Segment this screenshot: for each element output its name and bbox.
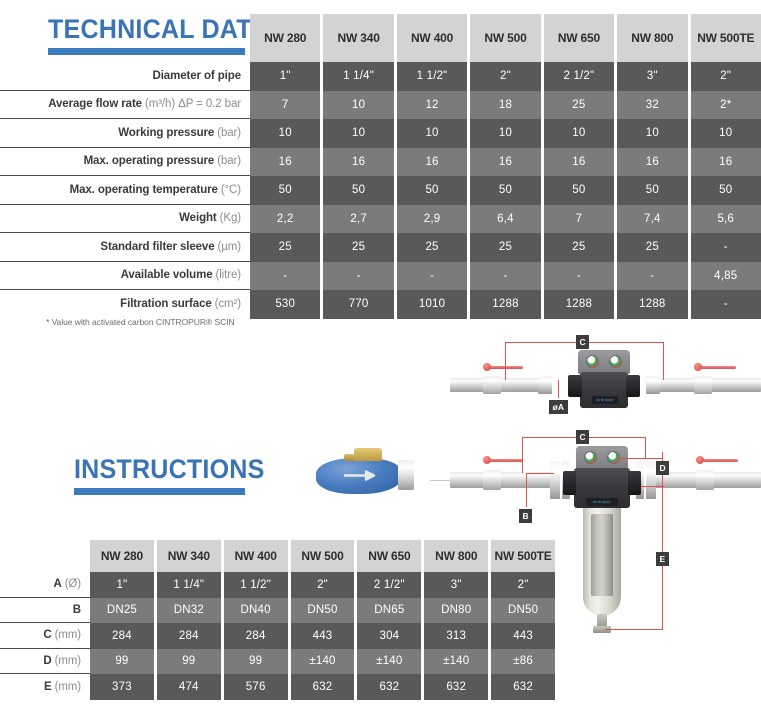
table-cell: 530: [250, 290, 320, 319]
filter-port-left-top: [568, 375, 582, 397]
table-cell: 770: [323, 290, 393, 319]
row-label-e: E(mm): [0, 674, 90, 700]
row-label-text: D: [43, 655, 51, 667]
row-label-text: Filtration surface: [120, 298, 212, 310]
table-cell: -: [691, 290, 761, 319]
table-cell: 2": [691, 62, 761, 91]
table-row: Standard filter sleeve(µm)252525252525-: [0, 233, 761, 262]
instructions-header-corner: [0, 540, 90, 572]
table-cell: 10: [617, 119, 687, 148]
table-cell: -: [544, 262, 614, 291]
table-cell: 2,7: [323, 205, 393, 234]
row-label-weight: Weight(Kg): [0, 205, 250, 234]
column-header-nw-400[interactable]: NW 400: [224, 540, 288, 572]
row-label-filtration-surface: Filtration surface(cm²): [0, 290, 250, 319]
row-label-unit: (µm): [215, 241, 241, 253]
column-header-nw-280[interactable]: NW 280: [90, 540, 154, 572]
table-cell: 25: [250, 233, 320, 262]
table-cell: 443: [291, 623, 355, 649]
table-cell: 284: [90, 623, 154, 649]
table-cell: 25: [470, 233, 540, 262]
table-cell: 373: [90, 674, 154, 700]
pipe-right-bottom: [710, 472, 761, 488]
column-header-nw-400[interactable]: NW 400: [397, 14, 467, 62]
row-label-c: C(mm): [0, 623, 90, 649]
row-label-text: Working pressure: [118, 127, 214, 139]
table-cell: 2,2: [250, 205, 320, 234]
dim-b-top-line: [526, 473, 554, 474]
instructions-title: INSTRUCTIONS: [74, 454, 265, 485]
table-cell: 284: [224, 623, 288, 649]
water-meter-nub: [344, 454, 354, 461]
table-cell: 1288: [470, 290, 540, 319]
collar-left-top: [538, 376, 552, 394]
table-cell: 632: [357, 674, 421, 700]
collar-right-top: [646, 376, 660, 394]
row-label-text: Weight: [179, 212, 217, 224]
brand-badge-bottom: cintropur: [586, 498, 618, 506]
brand-text-bottom: cintropur: [586, 498, 618, 506]
table-cell: 50: [470, 176, 540, 205]
row-cells: ------4,85: [250, 262, 761, 291]
table-cell: 576: [224, 674, 288, 700]
pressure-gauge-right-top: [609, 355, 622, 368]
dim-label-c-top: C: [576, 335, 589, 349]
table-cell: 50: [397, 176, 467, 205]
table-cell: 32: [617, 91, 687, 120]
table-cell: 16: [544, 148, 614, 177]
collar-right-2-bottom: [646, 461, 656, 499]
table-cell: 16: [323, 148, 393, 177]
table-cell: 99: [157, 649, 221, 675]
table-row: Max. operating pressure(bar)161616161616…: [0, 148, 761, 177]
dim-label-b: B: [519, 509, 532, 523]
table-cell: 2 1/2": [544, 62, 614, 91]
table-cell: 1": [250, 62, 320, 91]
row-label-unit: (bar): [214, 155, 241, 167]
dim-label-d: D: [656, 461, 669, 475]
dim-e-bottom-line: [605, 629, 663, 630]
row-label-unit: (m³/h) ΔP = 0.2 bar: [142, 98, 241, 110]
table-cell: 7,4: [617, 205, 687, 234]
row-cells: 710121825322*: [250, 91, 761, 120]
table-cell: 2,9: [397, 205, 467, 234]
row-label-unit: (bar): [214, 127, 241, 139]
row-label-unit: (mm): [52, 629, 81, 641]
dim-c-left-tick-bottom: [522, 437, 523, 473]
row-label-unit: (cm²): [212, 298, 241, 310]
table-cell: -: [470, 262, 540, 291]
flow-direction-icon: [342, 470, 382, 481]
row-label-unit: (°C): [218, 184, 241, 196]
row-label-unit: (Ø): [62, 578, 81, 590]
row-label-average-flow-rate: Average flow rate(m³/h) ΔP = 0.2 bar: [0, 91, 250, 120]
valve-knob-right-top: [694, 363, 702, 371]
table-cell: 1": [90, 572, 154, 598]
table-cell: 16: [470, 148, 540, 177]
row-label-text: B: [73, 604, 81, 616]
dim-a-line-top: [558, 380, 559, 398]
row-cells: 50505050505050: [250, 176, 761, 205]
table-cell: -: [617, 262, 687, 291]
row-label-max-operating-temperature: Max. operating temperature(°C): [0, 176, 250, 205]
table-cell: 10: [323, 91, 393, 120]
dim-c-right-tick-top: [663, 342, 664, 380]
diagram-water-meter: [310, 440, 460, 510]
table-cell: 3": [617, 62, 687, 91]
table-cell: 1288: [544, 290, 614, 319]
table-cell: DN65: [357, 598, 421, 624]
row-label-text: Available volume: [121, 269, 213, 281]
row-cells: 16161616161616: [250, 148, 761, 177]
table-row: Filtration surface(cm²)53077010101288128…: [0, 290, 761, 319]
table-cell: 10: [323, 119, 393, 148]
row-label-working-pressure: Working pressure(bar): [0, 119, 250, 148]
table-cell: 16: [250, 148, 320, 177]
table-cell: 16: [397, 148, 467, 177]
table-cell: 12: [397, 91, 467, 120]
table-cell: 16: [691, 148, 761, 177]
table-cell: 99: [224, 649, 288, 675]
row-label-text: Standard filter sleeve: [100, 241, 214, 253]
row-cells: 252525252525-: [250, 233, 761, 262]
valve-nut-left-top: [483, 376, 501, 394]
table-cell: 2": [291, 572, 355, 598]
row-label-standard-filter-sleeve: Standard filter sleeve(µm): [0, 233, 250, 262]
row-label-a: A(Ø): [0, 572, 90, 598]
datasheet-page: TECHNICAL DATA NW 280NW 340NW 400NW 500N…: [0, 0, 761, 707]
table-cell: 7: [250, 91, 320, 120]
row-label-unit: (litre): [213, 269, 242, 281]
table-row: Available volume(litre)------4,85: [0, 262, 761, 291]
row-label-text: Diameter of pipe: [152, 70, 241, 82]
table-cell: DN50: [291, 598, 355, 624]
row-label-diameter-of-pipe: Diameter of pipe: [0, 62, 250, 91]
row-label-unit: (mm): [52, 681, 81, 693]
column-header-nw-650[interactable]: NW 650: [357, 540, 421, 572]
table-cell: 2 1/2": [357, 572, 421, 598]
valve-knob-left-top: [483, 363, 491, 371]
table-cell: ±140: [357, 649, 421, 675]
column-header-nw-340[interactable]: NW 340: [323, 14, 393, 62]
valve-lever-right-top: [696, 366, 736, 369]
table-cell: 1 1/2": [397, 62, 467, 91]
filter-port-right-bottom: [628, 471, 641, 495]
column-header-nw-340[interactable]: NW 340: [157, 540, 221, 572]
table-cell: 10: [397, 119, 467, 148]
table-cell: DN25: [90, 598, 154, 624]
table-cell: 25: [323, 233, 393, 262]
table-row: Working pressure(bar)10101010101010: [0, 119, 761, 148]
table-cell: -: [323, 262, 393, 291]
pipe-right-top: [708, 378, 761, 392]
table-cell: -: [691, 233, 761, 262]
table-cell: ±140: [291, 649, 355, 675]
row-cells: 2,22,72,96,477,45,6: [250, 205, 761, 234]
row-label-max-operating-pressure: Max. operating pressure(bar): [0, 148, 250, 177]
water-meter-cap: [354, 448, 382, 461]
table-cell: 304: [357, 623, 421, 649]
valve-knob-left-bottom: [483, 456, 491, 464]
table-cell: DN40: [224, 598, 288, 624]
diagram-bottom-assembly: C D B cintropur: [450, 428, 761, 698]
column-header-nw-650[interactable]: NW 650: [544, 14, 614, 62]
row-cells: 5307701010128812881288-: [250, 290, 761, 319]
table-cell: -: [250, 262, 320, 291]
column-header-nw-500[interactable]: NW 500: [291, 540, 355, 572]
table-cell: 10: [470, 119, 540, 148]
table-cell: 50: [691, 176, 761, 205]
row-label-unit: (Kg): [217, 212, 241, 224]
table-cell: 1 1/4": [157, 572, 221, 598]
technical-header-cells: NW 280NW 340NW 400NW 500NW 650NW 800NW 5…: [250, 14, 761, 62]
column-header-nw-500te[interactable]: NW 500TE: [691, 14, 761, 62]
row-label-b: B: [0, 598, 90, 624]
collar-left-bottom: [550, 461, 560, 499]
table-cell: 99: [90, 649, 154, 675]
table-cell: 5,6: [691, 205, 761, 234]
table-cell: 1 1/2": [224, 572, 288, 598]
row-label-text: Average flow rate: [48, 98, 142, 110]
row-label-available-volume: Available volume(litre): [0, 262, 250, 291]
table-cell: 632: [291, 674, 355, 700]
table-cell: 6,4: [470, 205, 540, 234]
table-cell: 25: [544, 233, 614, 262]
row-label-d: D(mm): [0, 649, 90, 675]
table-row: Average flow rate(m³/h) ΔP = 0.2 bar7101…: [0, 91, 761, 120]
table-cell: 10: [691, 119, 761, 148]
valve-nut-left-bottom: [483, 470, 501, 490]
table-cell: 50: [544, 176, 614, 205]
table-cell: 1010: [397, 290, 467, 319]
table-cell: 10: [250, 119, 320, 148]
technical-header-row: NW 280NW 340NW 400NW 500NW 650NW 800NW 5…: [0, 14, 761, 62]
table-row: Diameter of pipe1"1 1/4"1 1/2"2"2 1/2"3"…: [0, 62, 761, 91]
table-cell: -: [397, 262, 467, 291]
pressure-gauge-left-top: [586, 355, 599, 368]
valve-nut-right-top: [694, 376, 712, 394]
table-cell: 50: [617, 176, 687, 205]
table-cell: 25: [544, 91, 614, 120]
dim-label-c-bottom: C: [576, 430, 589, 444]
row-cells: 10101010101010: [250, 119, 761, 148]
pressure-gauge-right-bottom: [607, 451, 620, 464]
table-row: Max. operating temperature(°C)5050505050…: [0, 176, 761, 205]
table-cell: 474: [157, 674, 221, 700]
valve-nut-right-bottom: [696, 470, 714, 490]
dim-label-a-top: øA: [549, 400, 568, 414]
column-header-nw-280[interactable]: NW 280: [250, 14, 320, 62]
table-cell: 4,85: [691, 262, 761, 291]
row-label-text: Max. operating pressure: [84, 155, 215, 167]
filter-port-left-bottom: [563, 471, 576, 495]
technical-data-table: NW 280NW 340NW 400NW 500NW 650NW 800NW 5…: [0, 14, 761, 319]
technical-data-footnote: * Value with activated carbon CINTROPUR®…: [46, 317, 235, 327]
table-cell: 25: [397, 233, 467, 262]
dim-c-right-tick-bottom: [645, 437, 646, 459]
row-label-text: Max. operating temperature: [70, 184, 218, 196]
pressure-gauge-left-bottom: [584, 451, 597, 464]
table-cell: 1 1/4": [323, 62, 393, 91]
brand-badge-top: cintropur: [592, 396, 618, 404]
dim-b-line: [526, 473, 527, 507]
table-cell: 16: [617, 148, 687, 177]
column-header-nw-800[interactable]: NW 800: [617, 14, 687, 62]
table-cell: 10: [544, 119, 614, 148]
table-cell: 18: [470, 91, 540, 120]
table-cell: 50: [250, 176, 320, 205]
table-cell: 1288: [617, 290, 687, 319]
row-label-text: A: [53, 578, 61, 590]
filter-sleeve: [591, 514, 613, 596]
dim-c-left-tick-top: [505, 342, 506, 380]
row-cells: 1"1 1/4"1 1/2"2"2 1/2"3"2": [250, 62, 761, 91]
water-meter-flange: [398, 460, 414, 490]
table-cell: 7: [544, 205, 614, 234]
technical-header-corner: [0, 14, 250, 62]
table-cell: 2*: [691, 91, 761, 120]
column-header-nw-500[interactable]: NW 500: [470, 14, 540, 62]
table-cell: 25: [617, 233, 687, 262]
brand-text-top: cintropur: [592, 396, 618, 404]
table-cell: DN32: [157, 598, 221, 624]
dim-label-e: E: [656, 552, 669, 566]
row-label-unit: (mm): [52, 655, 81, 667]
table-cell: 50: [323, 176, 393, 205]
valve-knob-right-bottom: [696, 456, 704, 464]
table-cell: 2": [470, 62, 540, 91]
table-row: Weight(Kg)2,22,72,96,477,45,6: [0, 205, 761, 234]
valve-lever-right-bottom: [698, 459, 738, 462]
filter-port-right-top: [626, 375, 640, 397]
table-cell: 284: [157, 623, 221, 649]
row-label-text: E: [44, 681, 52, 693]
diagram-top-assembly: C øA cintropur: [450, 330, 761, 430]
instructions-title-rule: [74, 488, 245, 495]
row-label-text: C: [43, 629, 51, 641]
